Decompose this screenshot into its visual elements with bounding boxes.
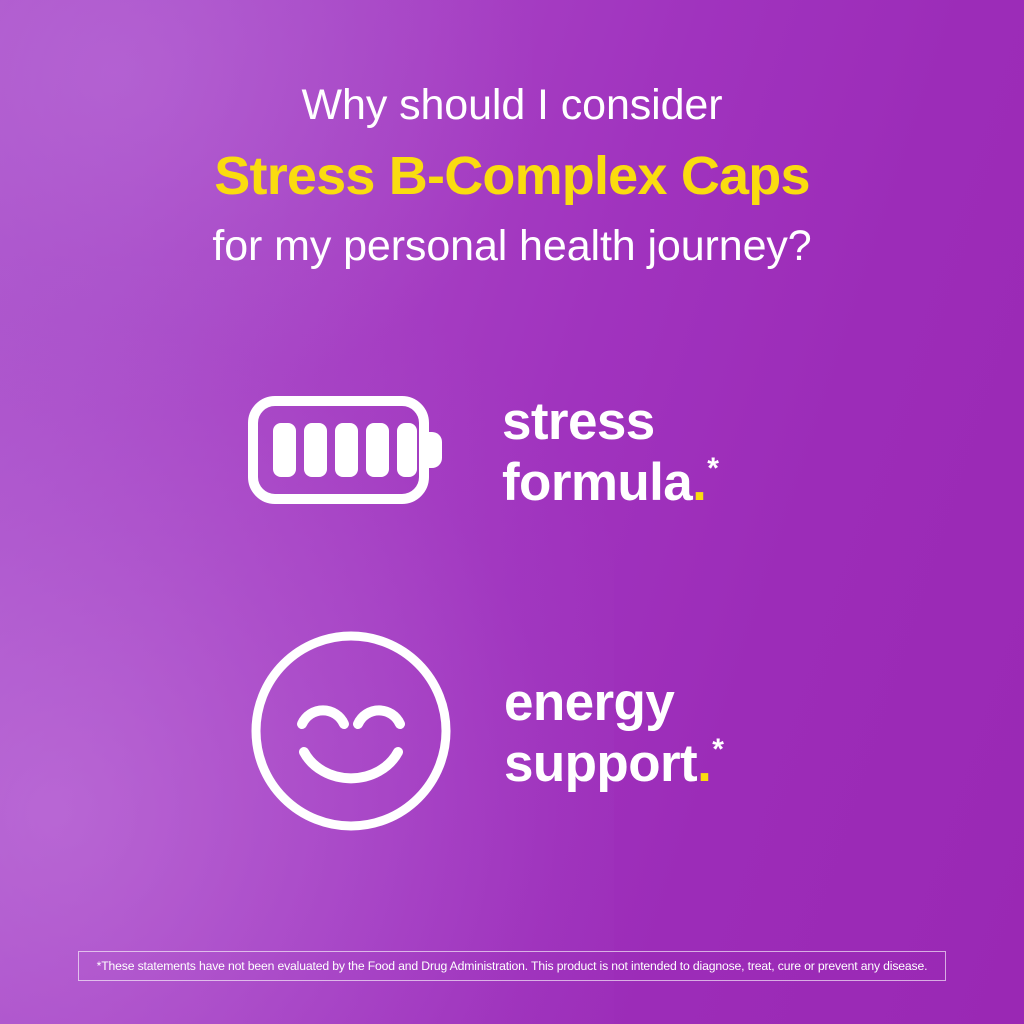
accent-period: . <box>692 453 706 512</box>
benefit-line-1: stress <box>502 392 718 452</box>
battery-icon <box>248 396 444 509</box>
headline-line-3: for my personal health journey? <box>0 225 1024 268</box>
smiley-face-icon <box>248 628 454 839</box>
benefit-line-2-text: formula <box>502 453 692 512</box>
benefit-label-energy-support: energy support.* <box>504 673 723 795</box>
accent-period: . <box>697 734 711 793</box>
headline-line-1: Why should I consider <box>0 84 1024 127</box>
benefit-line-1: energy <box>504 673 723 733</box>
headline-block: Why should I consider Stress B-Complex C… <box>0 84 1024 268</box>
disclaimer-text: *These statements have not been evaluate… <box>97 960 928 972</box>
product-name: Stress B-Complex Caps <box>0 149 1024 203</box>
benefit-item-energy-support: energy support.* <box>248 628 723 839</box>
promo-canvas: Why should I consider Stress B-Complex C… <box>0 0 1024 1024</box>
footnote-marker: * <box>712 733 723 766</box>
benefit-line-2: support.* <box>504 733 723 794</box>
benefit-item-stress-formula: stress formula.* <box>248 392 718 514</box>
footnote-marker: * <box>707 452 718 485</box>
benefit-line-2: formula.* <box>502 452 718 513</box>
benefit-line-2-text: support <box>504 734 697 793</box>
disclaimer-box: *These statements have not been evaluate… <box>78 951 946 981</box>
benefit-label-stress-formula: stress formula.* <box>502 392 718 514</box>
